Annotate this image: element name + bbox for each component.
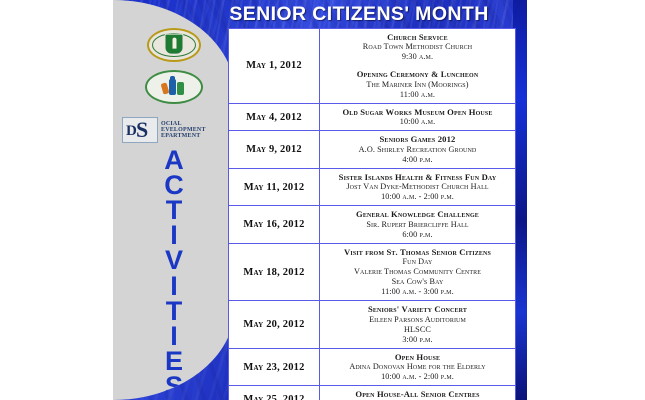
schedule-date-cell: May 20, 2012 bbox=[229, 301, 320, 348]
vertical-activities-letter-9: S bbox=[165, 374, 183, 399]
table-row: May 4, 2012Old Sugar Works Museum Open H… bbox=[229, 103, 516, 130]
social-development-department-logo: D S OCIAL EVELOPMENT EPARTMENT bbox=[122, 116, 226, 144]
event-venue-line: Jost Van Dyke-Methodist Church Hall bbox=[322, 182, 513, 192]
schedule-date-cell: May 25, 2012 bbox=[229, 386, 320, 400]
event-block: Open HouseAdina Donovan Home for the Eld… bbox=[322, 352, 513, 382]
table-row: May 18, 2012Visit from St. Thomas Senior… bbox=[229, 243, 516, 300]
event-venue-line: Road Town Methodist Church bbox=[322, 42, 513, 52]
event-time: 6:00 p.m. bbox=[322, 230, 513, 240]
sdd-word-department: EPARTMENT bbox=[161, 133, 206, 139]
event-title: Church Service bbox=[322, 32, 513, 42]
event-block: General Knowledge ChallengeSir. Rupert B… bbox=[322, 209, 513, 239]
event-time: 9:30 a.m. bbox=[322, 52, 513, 62]
schedule-event-cell: General Knowledge ChallengeSir. Rupert B… bbox=[320, 206, 516, 243]
event-block: Seniors' Variety ConcertEileen Parsons A… bbox=[322, 304, 513, 344]
table-row: May 20, 2012Seniors' Variety ConcertEile… bbox=[229, 301, 516, 348]
slide-sidebar-panel: D S OCIAL EVELOPMENT EPARTMENT ACTIVITIE… bbox=[113, 0, 235, 400]
schedule-event-cell: Seniors Games 2012A.O. Shirley Recreatio… bbox=[320, 131, 516, 168]
event-block: Old Sugar Works Museum Open House10:00 a… bbox=[322, 107, 513, 127]
table-row: May 9, 2012Seniors Games 2012A.O. Shirle… bbox=[229, 131, 516, 168]
schedule-event-cell: Open HouseAdina Donovan Home for the Eld… bbox=[320, 348, 516, 385]
schedule-event-cell: Old Sugar Works Museum Open House10:00 a… bbox=[320, 103, 516, 130]
schedule-date-cell: May 18, 2012 bbox=[229, 243, 320, 300]
event-block: Church ServiceRoad Town Methodist Church… bbox=[322, 32, 513, 62]
screenshot-canvas: D S OCIAL EVELOPMENT EPARTMENT ACTIVITIE… bbox=[0, 0, 645, 400]
event-title: Seniors' Variety Concert bbox=[322, 304, 513, 314]
event-title: General Knowledge Challenge bbox=[322, 209, 513, 219]
schedule-date-cell: May 23, 2012 bbox=[229, 348, 320, 385]
event-time: 10:00 a.m. - 2:00 p.m. bbox=[322, 372, 513, 382]
schedule-event-cell: Seniors' Variety ConcertEileen Parsons A… bbox=[320, 301, 516, 348]
schedule-date-cell: May 16, 2012 bbox=[229, 206, 320, 243]
event-title: Visit from St. Thomas Senior Citizens bbox=[322, 247, 513, 257]
event-venue-line: Eileen Parsons Auditorium bbox=[322, 315, 513, 325]
schedule-date-cell: May 1, 2012 bbox=[229, 29, 320, 104]
event-block: Seniors Games 2012A.O. Shirley Recreatio… bbox=[322, 134, 513, 164]
event-time: 3:00 p.m. bbox=[322, 335, 513, 345]
sdd-monogram-s: S bbox=[136, 119, 148, 141]
schedule-date-cell: May 11, 2012 bbox=[229, 168, 320, 205]
event-venue-line: The Mariner Inn (Moorings) bbox=[322, 80, 513, 90]
schedule-event-cell: Visit from St. Thomas Senior CitizensFun… bbox=[320, 243, 516, 300]
event-block: Open House-All Senior Centres10:00 a.m. … bbox=[322, 389, 513, 400]
event-venue-line: Valerie Thomas Community Centre bbox=[322, 267, 513, 277]
vertical-activities-letter-6: T bbox=[166, 299, 183, 324]
schedule-table-container: May 1, 2012Church ServiceRoad Town Metho… bbox=[228, 28, 516, 400]
event-title: Opening Ceremony & Luncheon bbox=[322, 69, 513, 79]
event-time: 11:00 a.m. - 3:00 p.m. bbox=[322, 287, 513, 297]
vertical-activities-label: ACTIVITIES bbox=[149, 148, 199, 399]
sdd-monogram-icon: D S bbox=[122, 117, 158, 143]
event-venue-line: Sea Cow's Bay bbox=[322, 277, 513, 287]
schedule-date-cell: May 4, 2012 bbox=[229, 103, 320, 130]
table-row: May 1, 2012Church ServiceRoad Town Metho… bbox=[229, 29, 516, 104]
vertical-activities-letter-5: I bbox=[170, 274, 178, 299]
event-title: Seniors Games 2012 bbox=[322, 134, 513, 144]
schedule-event-cell: Sister Islands Health & Fitness Fun DayJ… bbox=[320, 168, 516, 205]
event-venue-line: Fun Day bbox=[322, 257, 513, 267]
table-row: May 16, 2012General Knowledge ChallengeS… bbox=[229, 206, 516, 243]
event-block: Visit from St. Thomas Senior CitizensFun… bbox=[322, 247, 513, 297]
schedule-table-body: May 1, 2012Church ServiceRoad Town Metho… bbox=[229, 29, 516, 400]
presentation-slide: D S OCIAL EVELOPMENT EPARTMENT ACTIVITIE… bbox=[113, 0, 527, 400]
schedule-event-cell: Church ServiceRoad Town Methodist Church… bbox=[320, 29, 516, 104]
event-time: 11:00 a.m. bbox=[322, 90, 513, 100]
event-venue-line: Adina Donovan Home for the Elderly bbox=[322, 362, 513, 372]
event-title: Old Sugar Works Museum Open House bbox=[322, 107, 513, 117]
bvi-government-crest-icon bbox=[147, 28, 201, 62]
event-time: 4:00 p.m. bbox=[322, 155, 513, 165]
event-title: Open House-All Senior Centres bbox=[322, 389, 513, 399]
schedule-date-cell: May 9, 2012 bbox=[229, 131, 320, 168]
event-block: Sister Islands Health & Fitness Fun DayJ… bbox=[322, 172, 513, 202]
vertical-activities-letter-4: V bbox=[165, 248, 183, 273]
event-title: Open House bbox=[322, 352, 513, 362]
page-title: SENIOR CITIZENS' MONTH bbox=[113, 3, 527, 26]
table-row: May 25, 2012Open House-All Senior Centre… bbox=[229, 386, 516, 400]
event-block: Opening Ceremony & LuncheonThe Mariner I… bbox=[322, 69, 513, 99]
event-venue-line: Sir. Rupert Briercliffe Hall bbox=[322, 220, 513, 230]
event-title: Sister Islands Health & Fitness Fun Day bbox=[322, 172, 513, 182]
community-programme-seal-icon bbox=[145, 70, 203, 104]
event-time: 10:00 a.m. - 2:00 p.m. bbox=[322, 192, 513, 202]
schedule-table: May 1, 2012Church ServiceRoad Town Metho… bbox=[228, 28, 516, 400]
event-venue-line: A.O. Shirley Recreation Ground bbox=[322, 145, 513, 155]
event-venue-line: HLSCC bbox=[322, 325, 513, 335]
event-time: 10:00 a.m. bbox=[322, 117, 513, 127]
schedule-event-cell: Open House-All Senior Centres10:00 a.m. … bbox=[320, 386, 516, 400]
table-row: May 11, 2012Sister Islands Health & Fitn… bbox=[229, 168, 516, 205]
table-row: May 23, 2012Open HouseAdina Donovan Home… bbox=[229, 348, 516, 385]
